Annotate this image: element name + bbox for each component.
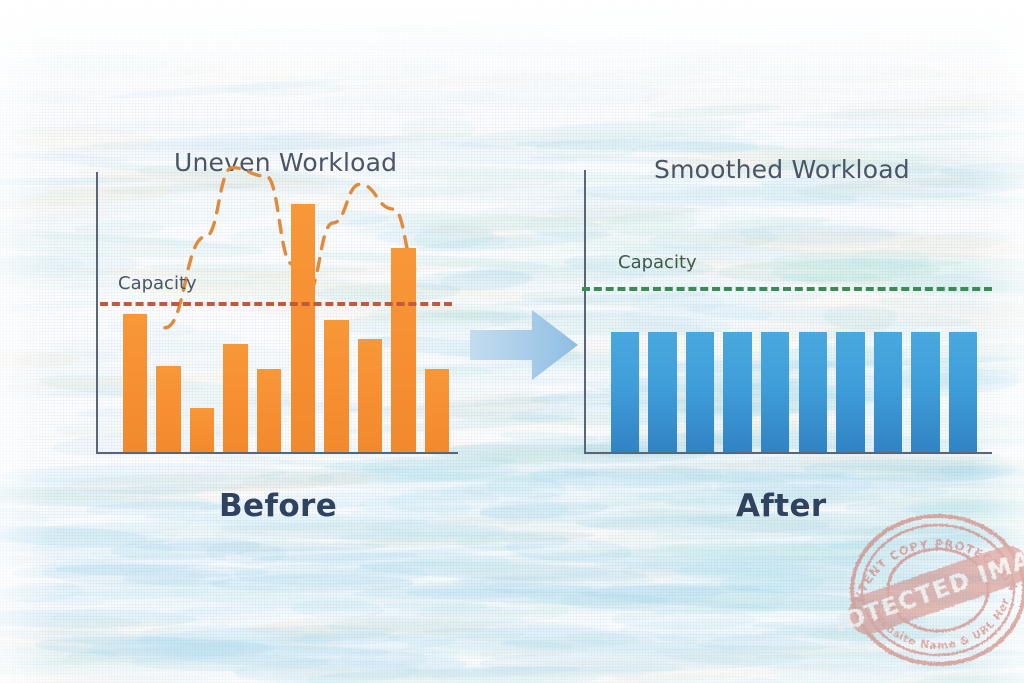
before-bar bbox=[257, 369, 282, 452]
before-bar-group bbox=[0, 0, 520, 683]
before-bar bbox=[358, 339, 383, 452]
after-bar bbox=[911, 332, 940, 452]
before-bar bbox=[324, 320, 349, 452]
before-bar bbox=[425, 369, 450, 452]
after-bar bbox=[723, 332, 752, 452]
after-bar bbox=[874, 332, 903, 452]
before-bar bbox=[190, 408, 215, 452]
after-bar bbox=[686, 332, 715, 452]
before-bar bbox=[391, 248, 416, 452]
after-bar bbox=[949, 332, 978, 452]
before-capacity-line bbox=[100, 302, 452, 306]
after-bar bbox=[648, 332, 677, 452]
after-bar bbox=[799, 332, 828, 452]
before-chart-panel: Uneven Workload Capacity Before bbox=[0, 0, 520, 683]
before-bar bbox=[223, 344, 248, 452]
after-bar bbox=[836, 332, 865, 452]
before-capacity-label: Capacity bbox=[118, 273, 197, 294]
before-bar bbox=[123, 314, 148, 452]
before-footer-label: Before bbox=[219, 488, 337, 524]
illustration-canvas: Uneven Workload Capacity Before Smoothed… bbox=[0, 0, 1024, 683]
after-capacity-label: Capacity bbox=[618, 252, 697, 273]
before-bar bbox=[291, 204, 316, 452]
protected-image-watermark: WP CONTENT COPY PROTECTION PLUGIN My Web… bbox=[838, 506, 1024, 674]
after-bar bbox=[761, 332, 790, 452]
before-bar bbox=[156, 366, 181, 452]
after-bar bbox=[611, 332, 640, 452]
after-footer-label: After bbox=[736, 488, 827, 524]
after-capacity-line bbox=[582, 287, 992, 291]
